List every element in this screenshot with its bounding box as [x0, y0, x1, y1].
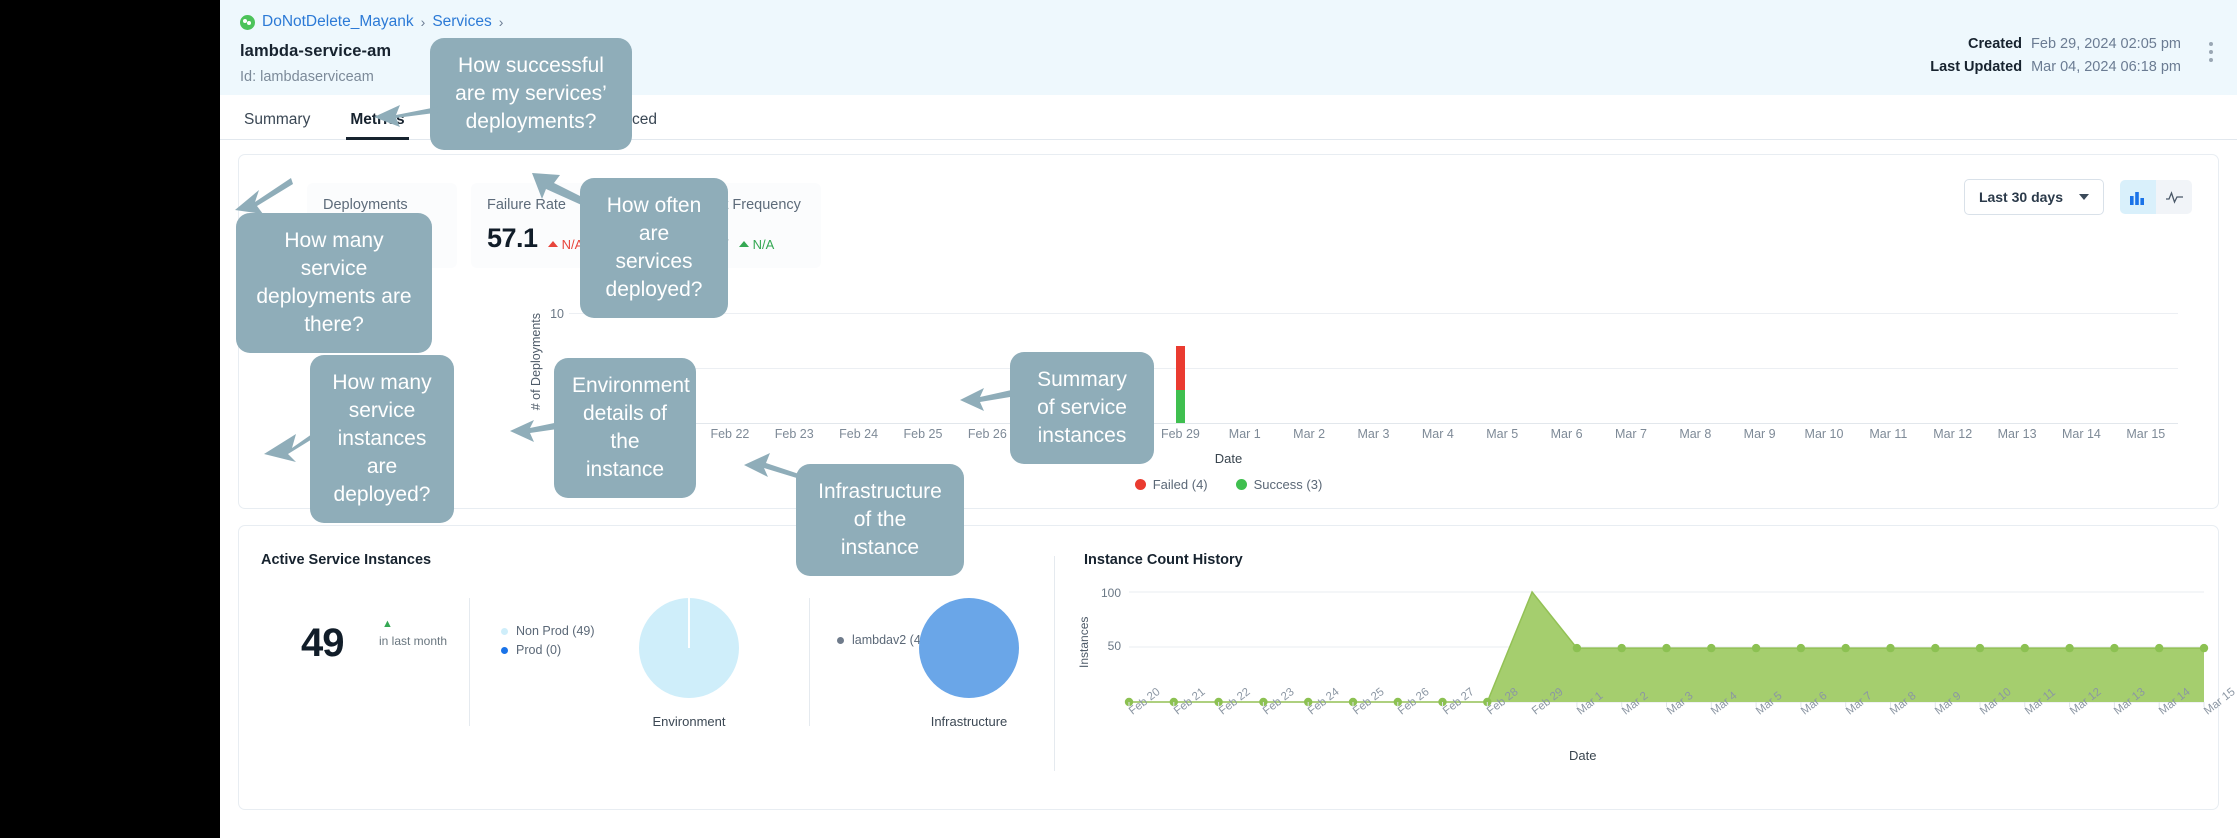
trend-up-icon-2 [739, 241, 749, 247]
data-point [1797, 644, 1805, 652]
data-point [2065, 644, 2073, 652]
instance-history-xlabel: Date [1569, 748, 1596, 763]
time-range-value: Last 30 days [1979, 189, 2063, 205]
breadcrumb-item-project[interactable]: DoNotDelete_Mayank [262, 13, 414, 31]
x-tick: Mar 13 [1985, 427, 2049, 441]
legend-label-failed: Failed (4) [1153, 477, 1208, 492]
x-tick: Mar 15 [2114, 427, 2178, 441]
bar-group[interactable] [891, 313, 955, 423]
record-metadata: Created Feb 29, 2024 02:05 pm Last Updat… [1930, 33, 2181, 79]
bar-group[interactable] [1277, 313, 1341, 423]
bar-group[interactable] [1856, 313, 1920, 423]
environment-legend: Non Prod (49) Prod (0) [501, 622, 595, 660]
bar-group[interactable] [762, 313, 826, 423]
breadcrumb: DoNotDelete_Mayank › Services › [240, 12, 2237, 32]
x-tick: Mar 4 [1406, 427, 1470, 441]
legend-item-nonprod[interactable]: Non Prod (49) [501, 622, 595, 641]
x-tick: Feb 23 [762, 427, 826, 441]
tab-summary[interactable]: Summary [244, 111, 310, 139]
x-tick: Mar 2 [1277, 427, 1341, 441]
legend-item-prod[interactable]: Prod (0) [501, 641, 595, 660]
environment-caption: Environment [619, 714, 759, 729]
bar-group[interactable] [1599, 313, 1663, 423]
active-instances-panel: Active Service Instances 49 ▲ in last mo… [238, 525, 2219, 810]
active-instances-count: 49 [301, 621, 344, 666]
breadcrumb-separator-2: › [499, 14, 504, 30]
x-tick: Feb 25 [891, 427, 955, 441]
bar-group[interactable] [698, 313, 762, 423]
trend-up-small-icon: ▲ [382, 618, 393, 630]
instance-count-history-chart[interactable] [1129, 592, 2204, 702]
legend-swatch-nonprod [501, 628, 508, 635]
legend-swatch-failed [1135, 479, 1146, 490]
instance-count-history-title: Instance Count History [1084, 552, 1243, 568]
breadcrumb-separator: › [421, 14, 426, 30]
chevron-down-icon [2079, 194, 2089, 200]
x-tick-labels: Feb 20Feb 21Feb 22Feb 23Feb 24Feb 25Feb … [569, 427, 2178, 441]
deployments-chart: # of Deployments 10 5 0 Feb 20Feb 21Feb … [239, 305, 2218, 505]
x-tick: Mar 7 [1599, 427, 1663, 441]
x-tick: Mar 5 [1470, 427, 1534, 441]
ich-x-tick-labels: Feb 20Feb 21Feb 22Feb 23Feb 24Feb 25Feb … [1129, 704, 2204, 748]
x-tick: Feb 29 [1148, 427, 1212, 441]
x-axis [569, 423, 2178, 424]
bar-group[interactable] [1148, 313, 1212, 423]
callout-arrow-5 [508, 418, 564, 444]
x-tick: Mar 8 [1663, 427, 1727, 441]
updated-row: Last Updated Mar 04, 2024 06:18 pm [1930, 56, 2181, 79]
chart-controls: Last 30 days [1964, 179, 2192, 215]
deployments-chart-xlabel: Date [239, 451, 2218, 466]
kpi-deployments-label: Deployments [323, 197, 437, 213]
infrastructure-caption: Infrastructure [899, 714, 1039, 729]
infrastructure-pie-chart[interactable] [919, 598, 1019, 703]
environment-pie-chart[interactable] [639, 598, 739, 703]
legend-swatch-lambdav2 [837, 637, 844, 644]
bar-group[interactable] [1406, 313, 1470, 423]
data-point [1618, 644, 1626, 652]
data-point [1976, 644, 1984, 652]
more-options-icon[interactable] [2201, 42, 2221, 68]
callout-how-often: How often are services deployed? [580, 178, 728, 318]
line-chart-icon[interactable] [2156, 180, 2192, 214]
bar-group[interactable] [2114, 313, 2178, 423]
x-tick: Mar 3 [1341, 427, 1405, 441]
bar-segment[interactable] [1176, 390, 1185, 423]
ich-ytick-50: 50 [1087, 639, 1121, 653]
x-tick: Mar 6 [1534, 427, 1598, 441]
kpi-failure-rate-value: 57.1 [487, 223, 538, 254]
active-instances-title: Active Service Instances [261, 552, 431, 568]
active-instances-subtitle: in last month [379, 634, 447, 648]
legend-label-prod: Prod (0) [516, 641, 561, 660]
callout-arrow-4 [262, 420, 332, 472]
infrastructure-legend: lambdav2 (49) [837, 631, 932, 650]
bar-group[interactable] [1534, 313, 1598, 423]
data-point [1707, 644, 1715, 652]
kpi-deployment-frequency-delta-text: N/A [753, 237, 775, 252]
bar-group[interactable] [1921, 313, 1985, 423]
ich-x-tick: Mar 15 [2202, 686, 2237, 717]
project-icon [240, 15, 255, 30]
callout-arrow-2 [233, 178, 293, 228]
legend-item-lambdav2[interactable]: lambdav2 (49) [837, 631, 932, 650]
chart-legend: Failed (4) Success (3) [239, 477, 2218, 492]
created-row: Created Feb 29, 2024 02:05 pm [1930, 33, 2181, 56]
bar-segment[interactable] [1176, 346, 1185, 390]
callout-arrow-1 [370, 103, 442, 129]
callout-summary-instances: Summary of service instances [1010, 352, 1154, 464]
divider-2 [809, 598, 810, 726]
x-tick: Feb 22 [698, 427, 762, 441]
bar-series-container [569, 313, 2178, 423]
callout-arrow-3 [530, 165, 590, 207]
x-tick: Mar 11 [1856, 427, 1920, 441]
data-point [1886, 644, 1894, 652]
callout-arrow-7 [958, 386, 1016, 412]
callout-how-many-deployments: How many service deployments are there? [236, 213, 432, 353]
legend-label-success: Success (3) [1254, 477, 1323, 492]
x-tick: Mar 1 [1213, 427, 1277, 441]
chart-type-toggle [2120, 180, 2192, 214]
x-tick: Mar 14 [2049, 427, 2113, 441]
bar-group[interactable] [1341, 313, 1405, 423]
bar-group[interactable] [1663, 313, 1727, 423]
bar-group[interactable] [826, 313, 890, 423]
data-point [1573, 644, 1581, 652]
deployments-panel: Deployments 7 N/A Failure Rate 57.1 N/A [238, 154, 2219, 509]
created-value: Feb 29, 2024 02:05 pm [2031, 33, 2181, 56]
data-point [2155, 644, 2163, 652]
ytick-10: 10 [534, 307, 564, 321]
kpi-failure-rate-delta: N/A [548, 237, 584, 252]
x-tick: Feb 24 [826, 427, 890, 441]
bar-group[interactable] [2049, 313, 2113, 423]
legend-swatch-prod [501, 647, 508, 654]
instance-history-ylabel: Instances [1077, 598, 1091, 668]
bar-group[interactable] [1727, 313, 1791, 423]
kpi-deployment-frequency-delta: N/A [739, 237, 775, 252]
data-point [1662, 644, 1670, 652]
callout-environment-details: Environment details of the instance [554, 358, 696, 498]
updated-value: Mar 04, 2024 06:18 pm [2031, 56, 2181, 79]
screen: DoNotDelete_Mayank › Services › lambda-s… [0, 0, 2237, 838]
data-point [1931, 644, 1939, 652]
bar-group[interactable] [1213, 313, 1277, 423]
updated-label: Last Updated [1930, 56, 2022, 79]
bar-group[interactable] [1985, 313, 2049, 423]
x-tick: Mar 9 [1727, 427, 1791, 441]
ich-ytick-100: 100 [1087, 586, 1121, 600]
callout-successful-deployments: How successful are my services’ deployme… [430, 38, 632, 150]
x-tick: Mar 10 [1792, 427, 1856, 441]
data-point [1842, 644, 1850, 652]
bar-group[interactable] [1792, 313, 1856, 423]
time-range-select[interactable]: Last 30 days [1964, 179, 2104, 215]
callout-arrow-6 [742, 449, 802, 479]
legend-item-success[interactable]: Success (3) [1236, 477, 1323, 492]
callout-infrastructure-details: Infrastructure of the instance [796, 464, 964, 576]
data-point [2110, 644, 2118, 652]
legend-swatch-success [1236, 479, 1247, 490]
legend-item-failed[interactable]: Failed (4) [1135, 477, 1208, 492]
bar-chart-icon[interactable] [2120, 180, 2156, 214]
trend-down-icon [548, 241, 558, 247]
bar-group[interactable] [1470, 313, 1534, 423]
data-point [2021, 644, 2029, 652]
created-label: Created [1968, 33, 2022, 56]
data-point [2200, 644, 2208, 652]
data-point [1752, 644, 1760, 652]
divider-1 [469, 598, 470, 726]
x-tick: Mar 12 [1921, 427, 1985, 441]
legend-label-nonprod: Non Prod (49) [516, 622, 595, 641]
divider-3 [1054, 556, 1055, 771]
breadcrumb-item-services[interactable]: Services [432, 13, 491, 31]
